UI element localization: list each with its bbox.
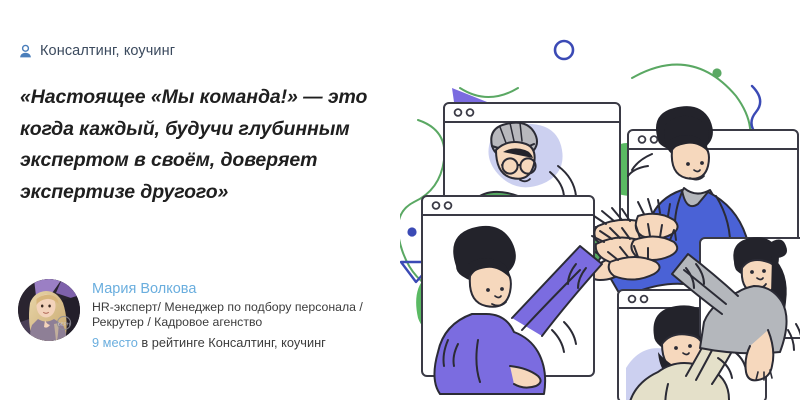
category-label: Консалтинг, коучинг — [40, 43, 175, 59]
content-column: Консалтинг, коучинг «Настоящее «Мы коман… — [0, 0, 410, 400]
author-name[interactable]: Мария Волкова — [92, 280, 382, 299]
profile-quote-card: Консалтинг, коучинг «Настоящее «Мы коман… — [0, 0, 800, 400]
rank-rest: в рейтинге Консалтинг, коучинг — [138, 335, 326, 350]
author-block[interactable]: БЕРН Мария Волкова HR-эксперт/ Менеджер … — [18, 279, 382, 352]
author-rank: 9 место в рейтинге Консалтинг, коучинг — [92, 333, 382, 352]
rank-place[interactable]: 9 место — [92, 335, 138, 350]
user-icon — [18, 44, 33, 59]
teamwork-illustration — [400, 0, 800, 400]
author-text: Мария Волкова HR-эксперт/ Менеджер по по… — [92, 279, 382, 352]
avatar[interactable]: БЕРН — [18, 279, 80, 341]
svg-text:БЕРН: БЕРН — [58, 321, 70, 326]
author-role: HR-эксперт/ Менеджер по подбору персонал… — [92, 300, 382, 332]
quote-text: «Настоящее «Мы команда!» — это когда каж… — [20, 82, 395, 208]
category-row[interactable]: Консалтинг, коучинг — [18, 43, 175, 59]
